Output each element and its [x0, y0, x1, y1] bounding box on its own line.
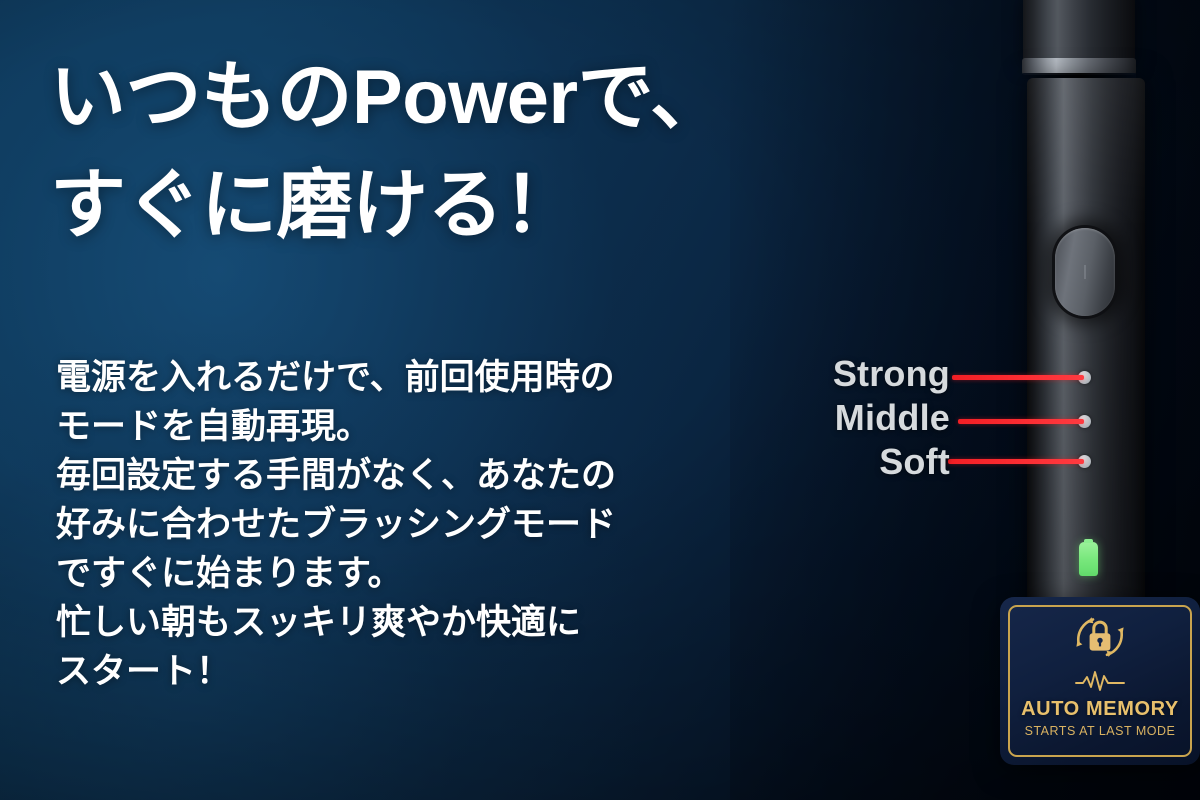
power-button-marker — [1085, 265, 1086, 279]
body-copy: 電源を入れるだけで、前回使用時の モードを自動再現。 毎回設定する手間がなく、あ… — [56, 353, 766, 696]
mode-callout-list: Strong Middle Soft — [700, 352, 950, 484]
badge-subtitle: STARTS AT LAST MODE — [1025, 724, 1176, 738]
auto-memory-badge: AUTO MEMORY STARTS AT LAST MODE — [1000, 597, 1200, 765]
device-illustration — [1010, 0, 1160, 636]
callout-label-strong: Strong — [700, 352, 950, 396]
battery-icon — [1079, 542, 1098, 576]
leader-line-soft — [948, 459, 1084, 464]
callout-label-middle: Middle — [700, 396, 950, 440]
device-handle-sheen — [1027, 78, 1145, 618]
device-brush-head — [1023, 0, 1135, 66]
page-title: いつものPowerで、 すぐに磨ける！ — [50, 44, 750, 260]
lock-refresh-icon — [1069, 611, 1131, 663]
promo-banner: いつものPowerで、 すぐに磨ける！ 電源を入れるだけで、前回使用時の モード… — [0, 0, 1200, 800]
badge-title: AUTO MEMORY — [1021, 698, 1179, 721]
leader-line-middle — [958, 419, 1084, 424]
device-power-button[interactable] — [1055, 228, 1115, 316]
callout-label-soft: Soft — [700, 440, 950, 484]
pulse-wave-icon — [1075, 670, 1125, 692]
leader-line-strong — [952, 375, 1084, 380]
